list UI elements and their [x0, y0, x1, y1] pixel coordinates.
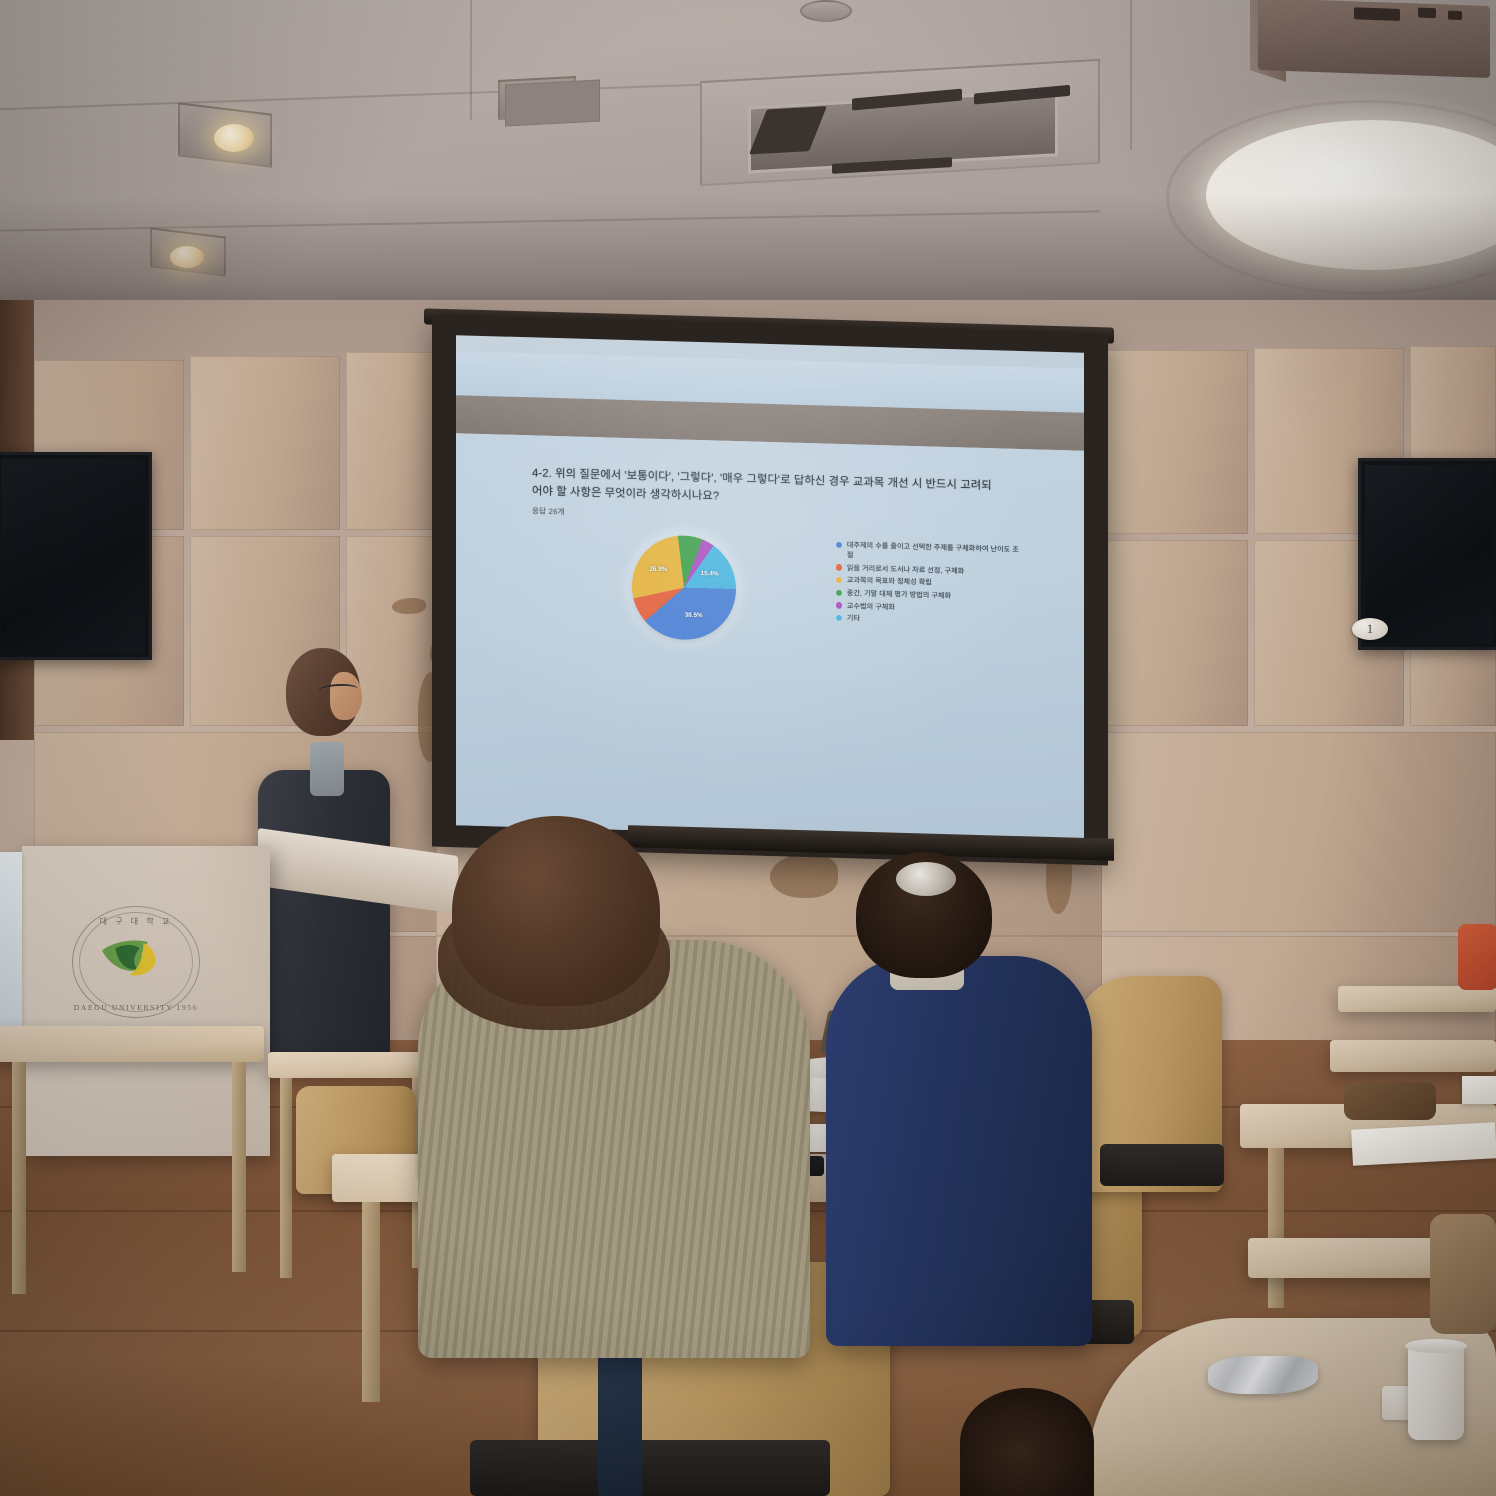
logo-emblem — [94, 930, 178, 998]
chair-red — [1458, 924, 1496, 990]
pie-slice-label-2: 26.9% — [649, 566, 667, 574]
slide-response-count: 응답 26개 — [532, 505, 565, 517]
photo-scene: 1 4-2. 위의 질문에서 '보통이다', '그렇다', '매우 그렇다'로 … — [0, 0, 1496, 1496]
bag — [1344, 1082, 1436, 1120]
ceiling-ac-unit — [700, 59, 1100, 186]
logo-korean-text: 대 구 대 학 교 — [72, 916, 200, 927]
legend-item-label: 교과목의 목표와 정체성 확립 — [847, 576, 932, 588]
monitor-screen — [1, 459, 145, 653]
foil-wrapper — [1208, 1356, 1318, 1394]
wall-map-decal — [392, 598, 426, 614]
downlight-lamp — [214, 124, 254, 152]
table-leg — [12, 1062, 26, 1294]
projector-vent — [1354, 7, 1400, 21]
paper-sheet — [1462, 1076, 1496, 1104]
university-logo: 대 구 대 학 교 DAEGU UNIVERSITY 1956 — [72, 906, 200, 1018]
wall-panel — [190, 356, 340, 530]
wall-monitor-left — [0, 452, 152, 660]
legend-color-swatch-icon — [836, 602, 842, 609]
ceiling-seam — [470, 0, 472, 120]
legend-item-label: 중간, 기말 대체 평가 방법의 구체화 — [847, 588, 951, 601]
table-leg — [232, 1062, 246, 1272]
attendee-foreground-head — [960, 1388, 1094, 1496]
ceiling-seam — [1130, 0, 1132, 150]
chair-seat — [470, 1440, 830, 1496]
legend-color-swatch-icon — [836, 564, 842, 571]
presentation-slide: 4-2. 위의 질문에서 '보통이다', '그렇다', '매우 그렇다'로 답하… — [456, 335, 1084, 843]
pie-slice-label-5: 15.4% — [701, 570, 719, 578]
projector-vent — [1448, 11, 1462, 20]
ceiling-projector — [1258, 0, 1490, 78]
pie-chart: 38.5% 26.9% 15.4% — [632, 534, 736, 641]
presenter-shirt — [310, 742, 344, 796]
cup-rim — [1405, 1339, 1467, 1353]
monitor-number-badge: 1 — [1352, 618, 1388, 640]
pie-slice-label-0: 38.5% — [685, 612, 703, 620]
wall-map-decal — [770, 854, 838, 898]
slide-body: 4-2. 위의 질문에서 '보통이다', '그렇다', '매우 그렇다'로 답하… — [456, 433, 1084, 843]
chart-legend: 대주제의 수를 줄이고 선택한 주제를 구체화하여 난이도 조절읽을 거리로서 … — [836, 540, 1021, 631]
projector-vent — [1418, 8, 1436, 19]
legend-item-label: 교수법의 구체화 — [847, 601, 895, 612]
legend-item-label: 기타 — [847, 613, 860, 623]
table — [1330, 1040, 1496, 1072]
table — [0, 1026, 264, 1062]
ceiling-speaker — [800, 0, 852, 22]
table-leg — [280, 1078, 292, 1278]
attendee-center-jacket — [826, 956, 1092, 1346]
legend-color-swatch-icon — [836, 541, 842, 548]
handbag — [1430, 1214, 1496, 1334]
legend-item-0: 대주제의 수를 줄이고 선택한 주제를 구체화하여 난이도 조절 — [836, 540, 1021, 565]
whiteboard-edge — [0, 852, 22, 1032]
legend-item-label: 대주제의 수를 줄이고 선택한 주제를 구체화하여 난이도 조절 — [847, 540, 1021, 565]
wall-panel — [1098, 732, 1496, 932]
chair-seat — [1100, 1144, 1224, 1186]
wall-panel — [346, 352, 436, 530]
legend-color-swatch-icon — [836, 589, 842, 596]
table-leg — [362, 1202, 380, 1402]
slide-question-title: 4-2. 위의 질문에서 '보통이다', '그렇다', '매우 그렇다'로 답하… — [532, 465, 1002, 513]
legend-item-label: 읽을 거리로서 도서나 자료 선정, 구체화 — [847, 563, 964, 576]
logo-english-text: DAEGU UNIVERSITY 1956 — [72, 1003, 200, 1012]
paper-sheet — [1351, 1122, 1496, 1165]
ceiling-access-panel — [505, 80, 600, 127]
table-leg — [1268, 1148, 1284, 1308]
pie-disc — [632, 534, 736, 641]
paper-cup — [1408, 1344, 1464, 1440]
legend-color-swatch-icon — [836, 615, 842, 622]
monitor-screen — [1365, 465, 1493, 643]
wall-panel — [1098, 540, 1248, 726]
hair-clip — [896, 862, 956, 896]
presenter-torso — [258, 770, 390, 1055]
projection-screen-surface: 4-2. 위의 질문에서 '보통이다', '그렇다', '매우 그렇다'로 답하… — [456, 335, 1084, 843]
legend-color-swatch-icon — [836, 577, 842, 584]
legend-item-5: 기타 — [836, 613, 1021, 628]
wall-panel — [1098, 350, 1248, 534]
attendee-front-left-hair — [452, 816, 660, 1006]
